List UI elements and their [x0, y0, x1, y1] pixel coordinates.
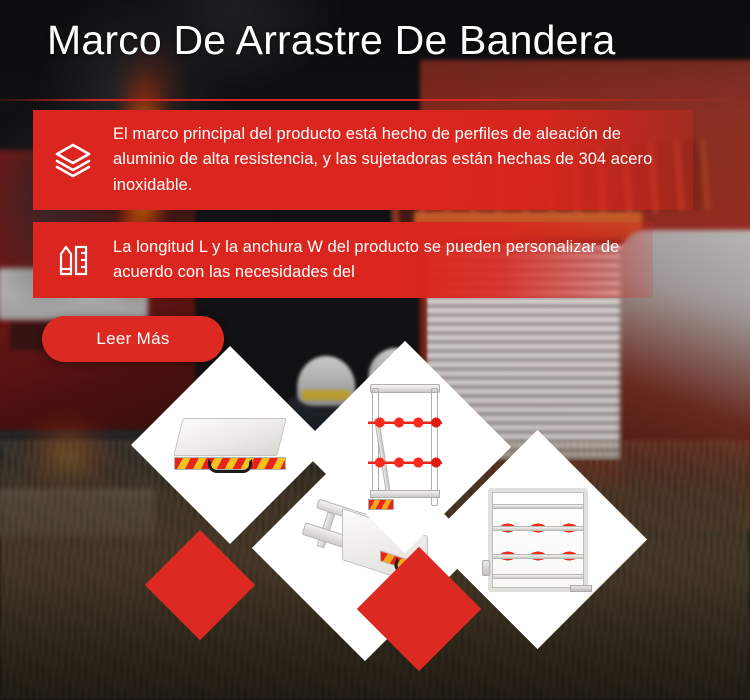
- product-image-wide-frame-rack: [482, 484, 594, 596]
- product-diamond-gallery: [0, 0, 750, 700]
- pencil-ruler-icon: [51, 238, 95, 282]
- feature-panel-1: El marco principal del producto está hec…: [33, 110, 693, 210]
- feature-panel-2-text: La longitud L y la anchura W del product…: [113, 235, 631, 285]
- accent-diamond-left: [145, 530, 255, 640]
- product-image-flat-drag-tray: [174, 418, 286, 476]
- promo-banner: Marco De Arrastre De Bandera El marco pr…: [0, 0, 750, 700]
- layers-icon: [51, 138, 95, 182]
- feature-panel-1-text: El marco principal del producto está hec…: [113, 122, 671, 197]
- product-image-vertical-hose-rack: [366, 384, 444, 510]
